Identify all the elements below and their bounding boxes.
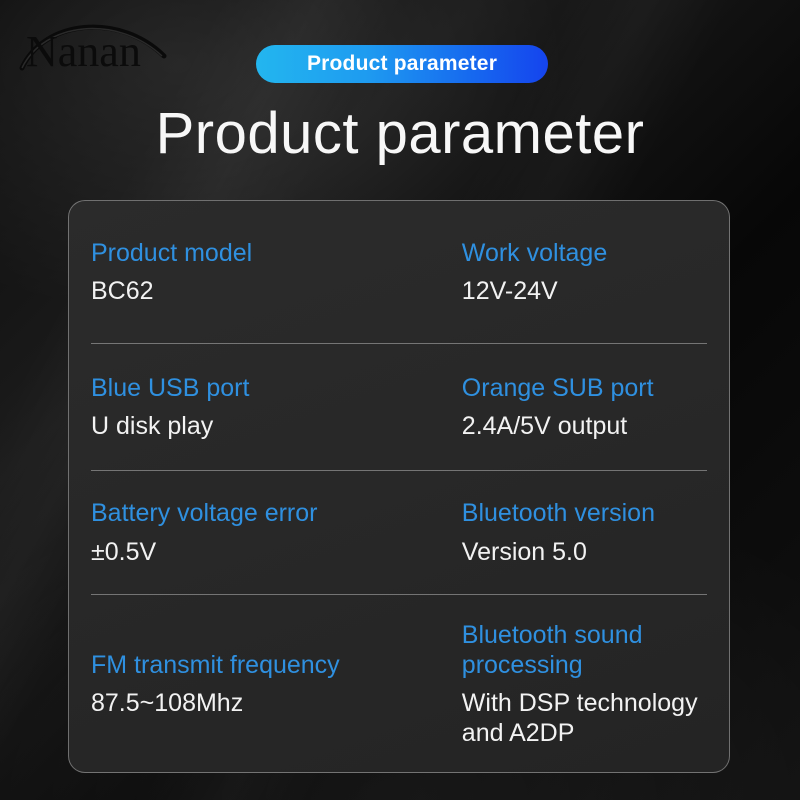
swoosh-arc-icon: Nanan — [14, 16, 184, 82]
spec-label: Blue USB port — [91, 374, 462, 404]
spec-label: Bluetooth version — [462, 499, 707, 529]
spec-row: Product model BC62 Work voltage 12V-24V — [69, 201, 729, 344]
spec-value: 87.5~108Mhz — [91, 689, 462, 719]
spec-value: BC62 — [91, 277, 462, 307]
product-parameter-page: Nanan Product parameter Product paramete… — [0, 0, 800, 800]
spec-row: Blue USB port U disk play Orange SUB por… — [69, 344, 729, 471]
spec-row: FM transmit frequency 87.5~108Mhz Blueto… — [69, 595, 729, 773]
spec-cell-left: Product model BC62 — [91, 239, 462, 307]
product-parameter-badge: Product parameter — [256, 45, 548, 83]
spec-card: Product model BC62 Work voltage 12V-24V … — [68, 200, 730, 773]
badge-label: Product parameter — [307, 52, 497, 76]
spec-label: Work voltage — [462, 239, 707, 269]
brand-logo-text: Nanan — [26, 27, 141, 76]
spec-cell-left: Blue USB port U disk play — [91, 374, 462, 442]
spec-value: 2.4A/5V output — [462, 412, 707, 442]
page-title: Product parameter — [0, 100, 800, 167]
spec-label: FM transmit frequency — [91, 651, 462, 681]
spec-cell-right: Work voltage 12V-24V — [462, 239, 707, 307]
brand-logo: Nanan — [14, 16, 184, 82]
spec-value: ±0.5V — [91, 538, 462, 568]
spec-value: Version 5.0 — [462, 538, 707, 568]
spec-label: Bluetooth sound processing — [462, 621, 707, 680]
spec-value: 12V-24V — [462, 277, 707, 307]
spec-value: U disk play — [91, 412, 462, 442]
spec-label: Orange SUB port — [462, 374, 707, 404]
spec-cell-right: Orange SUB port 2.4A/5V output — [462, 374, 707, 442]
spec-cell-left: Battery voltage error ±0.5V — [91, 499, 462, 567]
spec-label: Battery voltage error — [91, 499, 462, 529]
spec-cell-left: FM transmit frequency 87.5~108Mhz — [91, 651, 462, 719]
spec-row: Battery voltage error ±0.5V Bluetooth ve… — [69, 471, 729, 595]
spec-value: With DSP technology and A2DP — [462, 689, 707, 748]
spec-cell-right: Bluetooth sound processing With DSP tech… — [462, 621, 707, 748]
spec-cell-right: Bluetooth version Version 5.0 — [462, 499, 707, 567]
spec-label: Product model — [91, 239, 462, 269]
